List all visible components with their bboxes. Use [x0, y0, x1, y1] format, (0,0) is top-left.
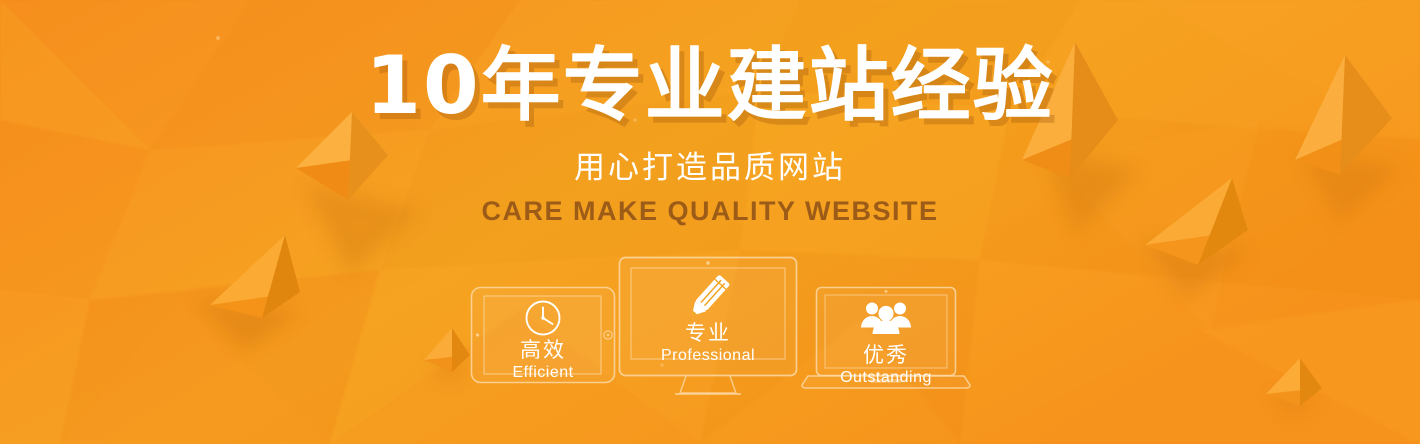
laptop-icon — [800, 286, 972, 390]
feature-card-efficient[interactable]: 高效 Efficient — [470, 286, 616, 384]
tablet-icon — [470, 286, 616, 384]
subtitle-chinese: 用心打造品质网站 — [0, 130, 1420, 188]
feature-card-outstanding[interactable]: 优秀 Outstanding — [800, 286, 972, 390]
page-title: 10年专业建站经验 — [0, 0, 1420, 130]
promo-banner: 10年专业建站经验 用心打造品质网站 CARE MAKE QUALITY WEB… — [0, 0, 1420, 444]
subtitle-english: CARE MAKE QUALITY WEBSITE — [0, 188, 1420, 228]
feature-card-professional[interactable]: 专业 Professional — [618, 256, 798, 396]
monitor-icon — [618, 256, 798, 396]
banner-text-block: 10年专业建站经验 用心打造品质网站 CARE MAKE QUALITY WEB… — [0, 0, 1420, 228]
